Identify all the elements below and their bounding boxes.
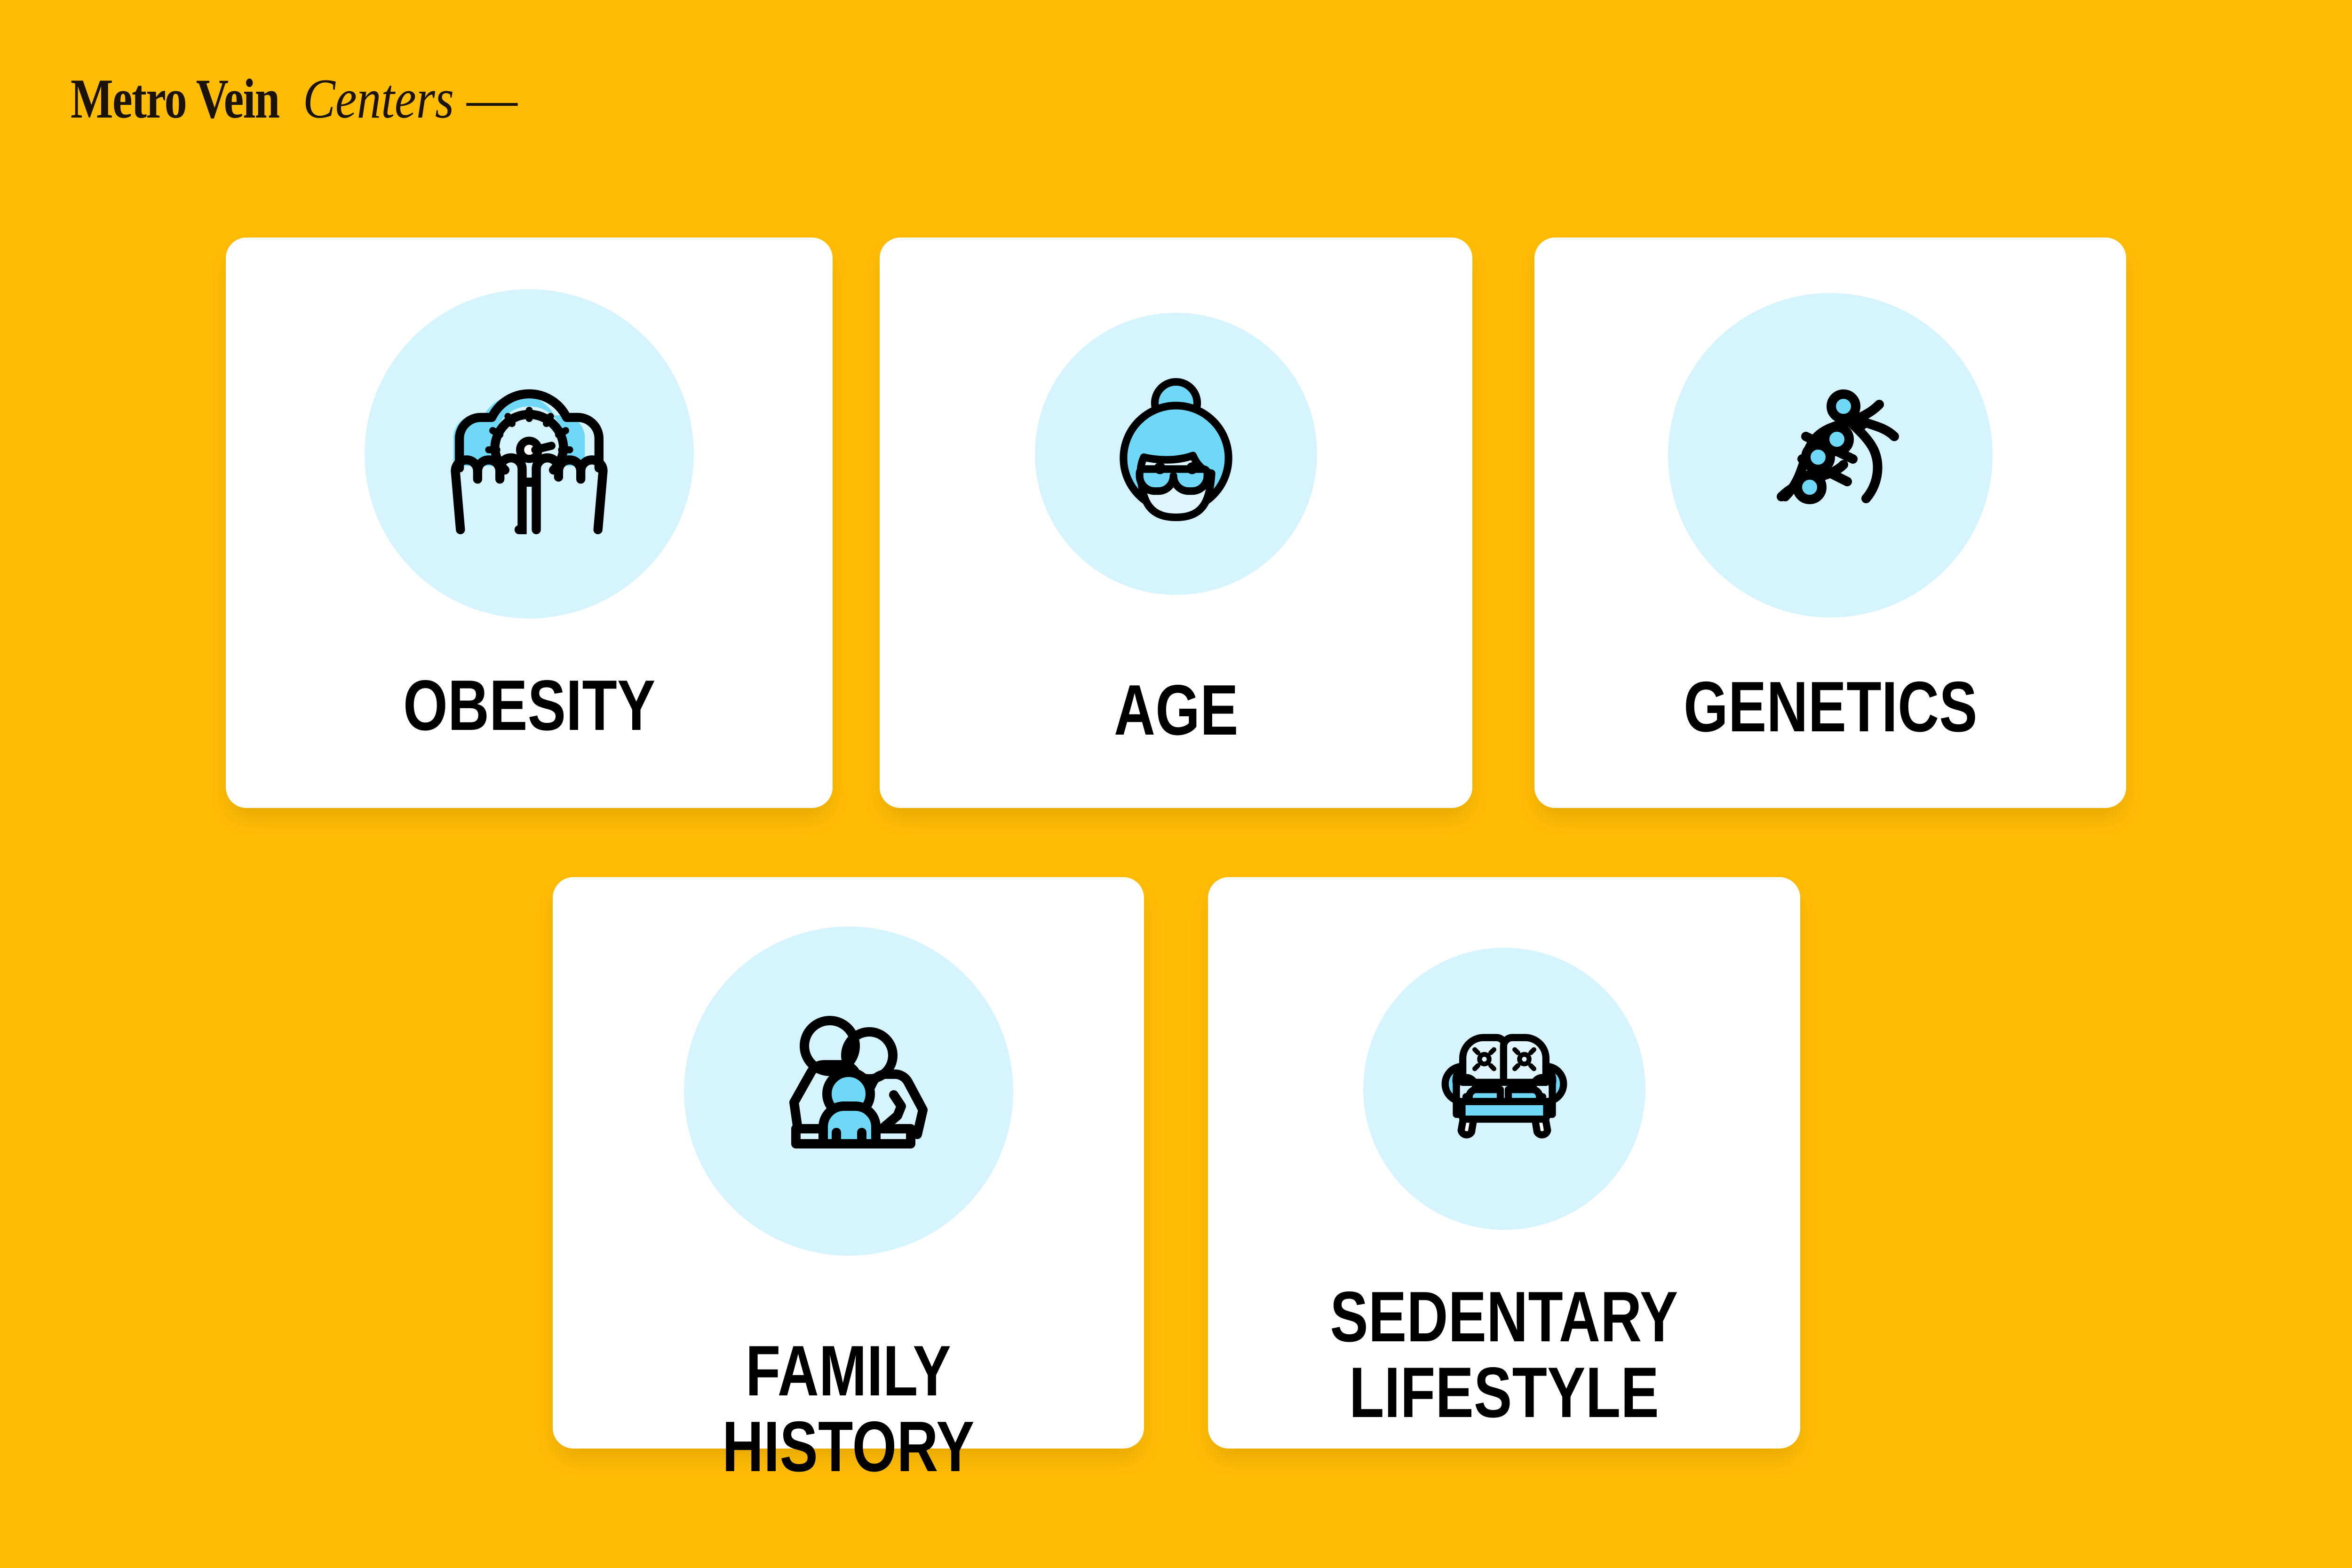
dna-helix-icon — [1736, 361, 1924, 549]
bathroom-scale-icon — [428, 353, 630, 555]
icon-circle-sedentary-lifestyle — [1363, 948, 1645, 1230]
risk-factor-card-genetics[interactable]: GENETICS — [1534, 238, 2126, 808]
brand-name-bold: Metro Vein — [71, 71, 279, 127]
risk-factor-card-sedentary-lifestyle[interactable]: SEDENTARY LIFESTYLE — [1208, 877, 1800, 1449]
risk-factor-card-obesity[interactable]: OBESITY — [226, 238, 833, 808]
icon-circle-age — [1035, 313, 1317, 595]
brand-logo: Metro Vein Centers — — [71, 71, 520, 127]
elderly-woman-face-icon — [1091, 369, 1261, 539]
risk-factor-card-family-history[interactable]: FAMILY HISTORY — [553, 877, 1144, 1449]
sofa-icon — [1424, 1009, 1584, 1169]
brand-dash: — — [467, 71, 517, 127]
card-label-sedentary-lifestyle: SEDENTARY LIFESTYLE — [1330, 1279, 1678, 1431]
icon-circle-genetics — [1668, 293, 1993, 618]
card-label-obesity: OBESITY — [403, 668, 656, 744]
icon-circle-obesity — [365, 289, 694, 618]
card-label-age: AGE — [1114, 673, 1239, 748]
card-label-genetics: GENETICS — [1684, 669, 1978, 745]
card-label-family-history: FAMILY HISTORY — [612, 1333, 1085, 1485]
icon-circle-family-history — [684, 927, 1013, 1256]
risk-factor-card-age[interactable]: AGE — [880, 238, 1472, 808]
family-group-icon — [755, 997, 943, 1185]
brand-name-italic: Centers — [303, 71, 454, 127]
